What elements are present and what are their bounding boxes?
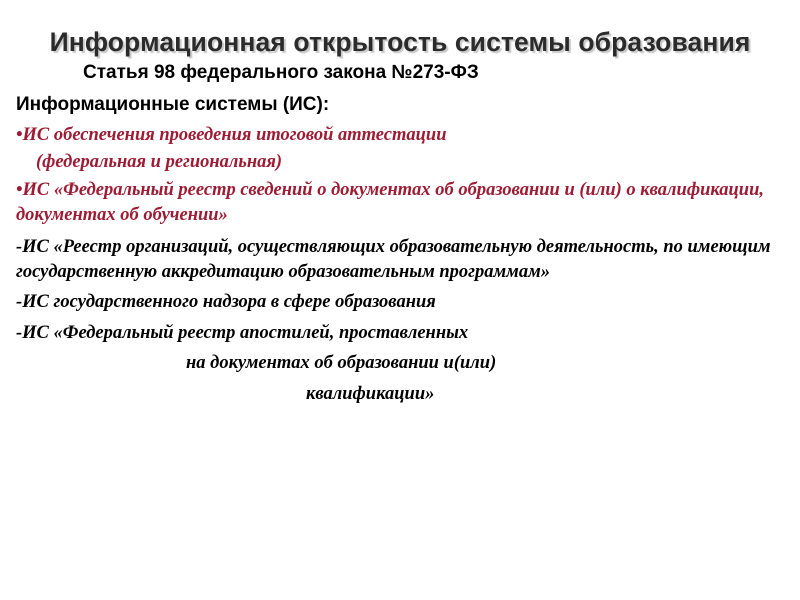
list-item: •ИС обеспечения проведения итоговой атте… [16, 123, 792, 148]
list-item: -ИС «Федеральный реестр апостилей, прост… [16, 321, 792, 346]
slide-subtitle: Статья 98 федерального закона №273-ФЗ [16, 60, 792, 85]
list-item: •ИС «Федеральный реестр сведений о докум… [16, 178, 792, 227]
list-item: -ИС государственного надзора в сфере обр… [16, 290, 792, 315]
list-item-continuation: квалификации» [16, 382, 792, 407]
list-item-label: ИС «Федеральный реестр апостилей, проста… [22, 323, 468, 343]
slide-body: Статья 98 федерального закона №273-ФЗ Ин… [16, 60, 792, 408]
list-item-label: (федеральная и региональная) [36, 152, 282, 172]
list-item-label: на документах об образовании и(или) [186, 353, 496, 373]
page-title: Информационная открытость системы образо… [0, 26, 800, 58]
list-item-label: ИС государственного надзора в сфере обра… [22, 292, 436, 312]
list-item-continuation: на документах об образовании и(или) [16, 351, 792, 376]
presentation-slide: Информационная открытость системы образо… [0, 0, 800, 600]
list-item-label: ИС «Реестр организаций, осуществляющих о… [16, 237, 771, 282]
slide-lead-text: Информационные системы (ИС): [16, 92, 792, 117]
list-item: (федеральная и региональная) [16, 150, 792, 175]
list-item-label: квалификации» [306, 384, 434, 404]
list-item: -ИС «Реестр организаций, осуществляющих … [16, 235, 792, 284]
list-item-label: ИС обеспечения проведения итоговой аттес… [22, 125, 446, 145]
list-item-label: ИС «Федеральный реестр сведений о докуме… [16, 180, 764, 225]
